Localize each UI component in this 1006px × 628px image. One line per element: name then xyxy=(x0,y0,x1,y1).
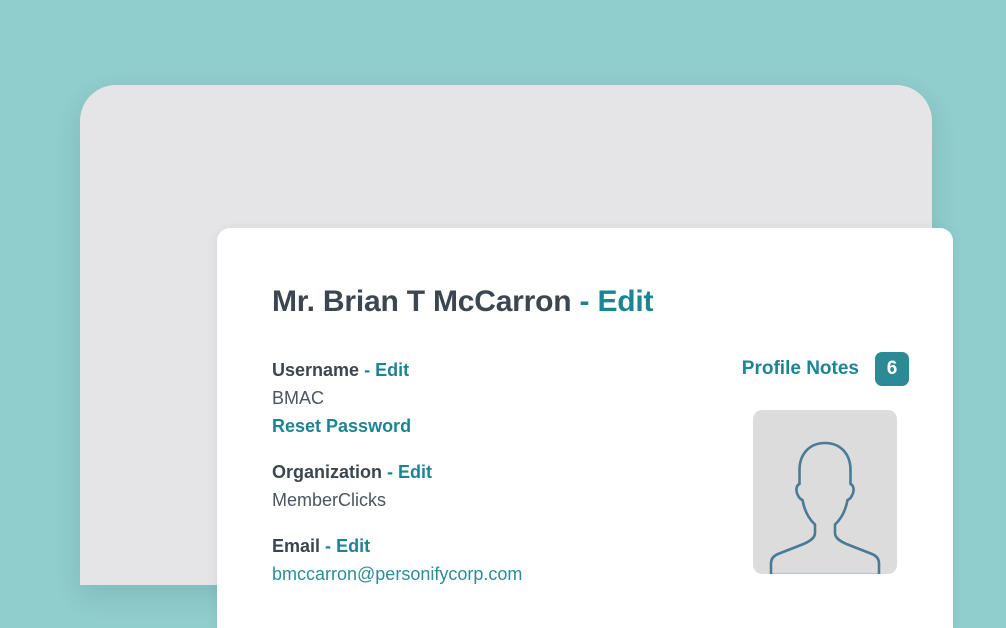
field-email-value[interactable]: bmccarron@personifycorp.com xyxy=(272,560,652,588)
field-username-label-row: Username - Edit xyxy=(272,356,652,384)
field-organization: Organization - Edit MemberClicks xyxy=(272,458,652,514)
profile-notes-link[interactable]: Profile Notes xyxy=(742,358,859,380)
page-title: Mr. Brian T McCarron - Edit xyxy=(272,285,653,319)
field-username-label: Username xyxy=(272,360,359,380)
field-email-label: Email xyxy=(272,536,320,556)
field-username-dash: - xyxy=(364,360,370,380)
field-email: Email - Edit bmccarron@personifycorp.com xyxy=(272,532,652,588)
field-email-label-row: Email - Edit xyxy=(272,532,652,560)
profile-notes-count-badge[interactable]: 6 xyxy=(875,352,909,386)
page-title-dash: - xyxy=(580,285,590,318)
screen-background: Mr. Brian T McCarron - Edit Username - E… xyxy=(0,0,1006,514)
edit-email-link[interactable]: Edit xyxy=(336,536,370,556)
edit-profile-link[interactable]: Edit xyxy=(597,285,653,318)
device-frame: Mr. Brian T McCarron - Edit Username - E… xyxy=(80,85,932,585)
field-username: Username - Edit BMAC Reset Password xyxy=(272,356,652,440)
avatar[interactable] xyxy=(753,410,897,574)
edit-organization-link[interactable]: Edit xyxy=(398,462,432,482)
page-title-name: Mr. Brian T McCarron xyxy=(272,285,571,318)
field-organization-label-row: Organization - Edit xyxy=(272,458,652,486)
field-organization-value: MemberClicks xyxy=(272,486,652,514)
field-organization-label: Organization xyxy=(272,462,382,482)
edit-username-link[interactable]: Edit xyxy=(375,360,409,380)
person-silhouette-icon xyxy=(766,434,884,574)
reset-password-link[interactable]: Reset Password xyxy=(272,412,652,440)
field-username-value: BMAC xyxy=(272,384,652,412)
field-organization-dash: - xyxy=(387,462,393,482)
profile-card-inner: Mr. Brian T McCarron - Edit Username - E… xyxy=(217,228,953,628)
profile-card: Mr. Brian T McCarron - Edit Username - E… xyxy=(217,228,953,628)
profile-details: Username - Edit BMAC Reset Password Orga… xyxy=(272,356,652,606)
profile-notes-row: Profile Notes 6 xyxy=(742,352,909,386)
field-email-dash: - xyxy=(325,536,331,556)
